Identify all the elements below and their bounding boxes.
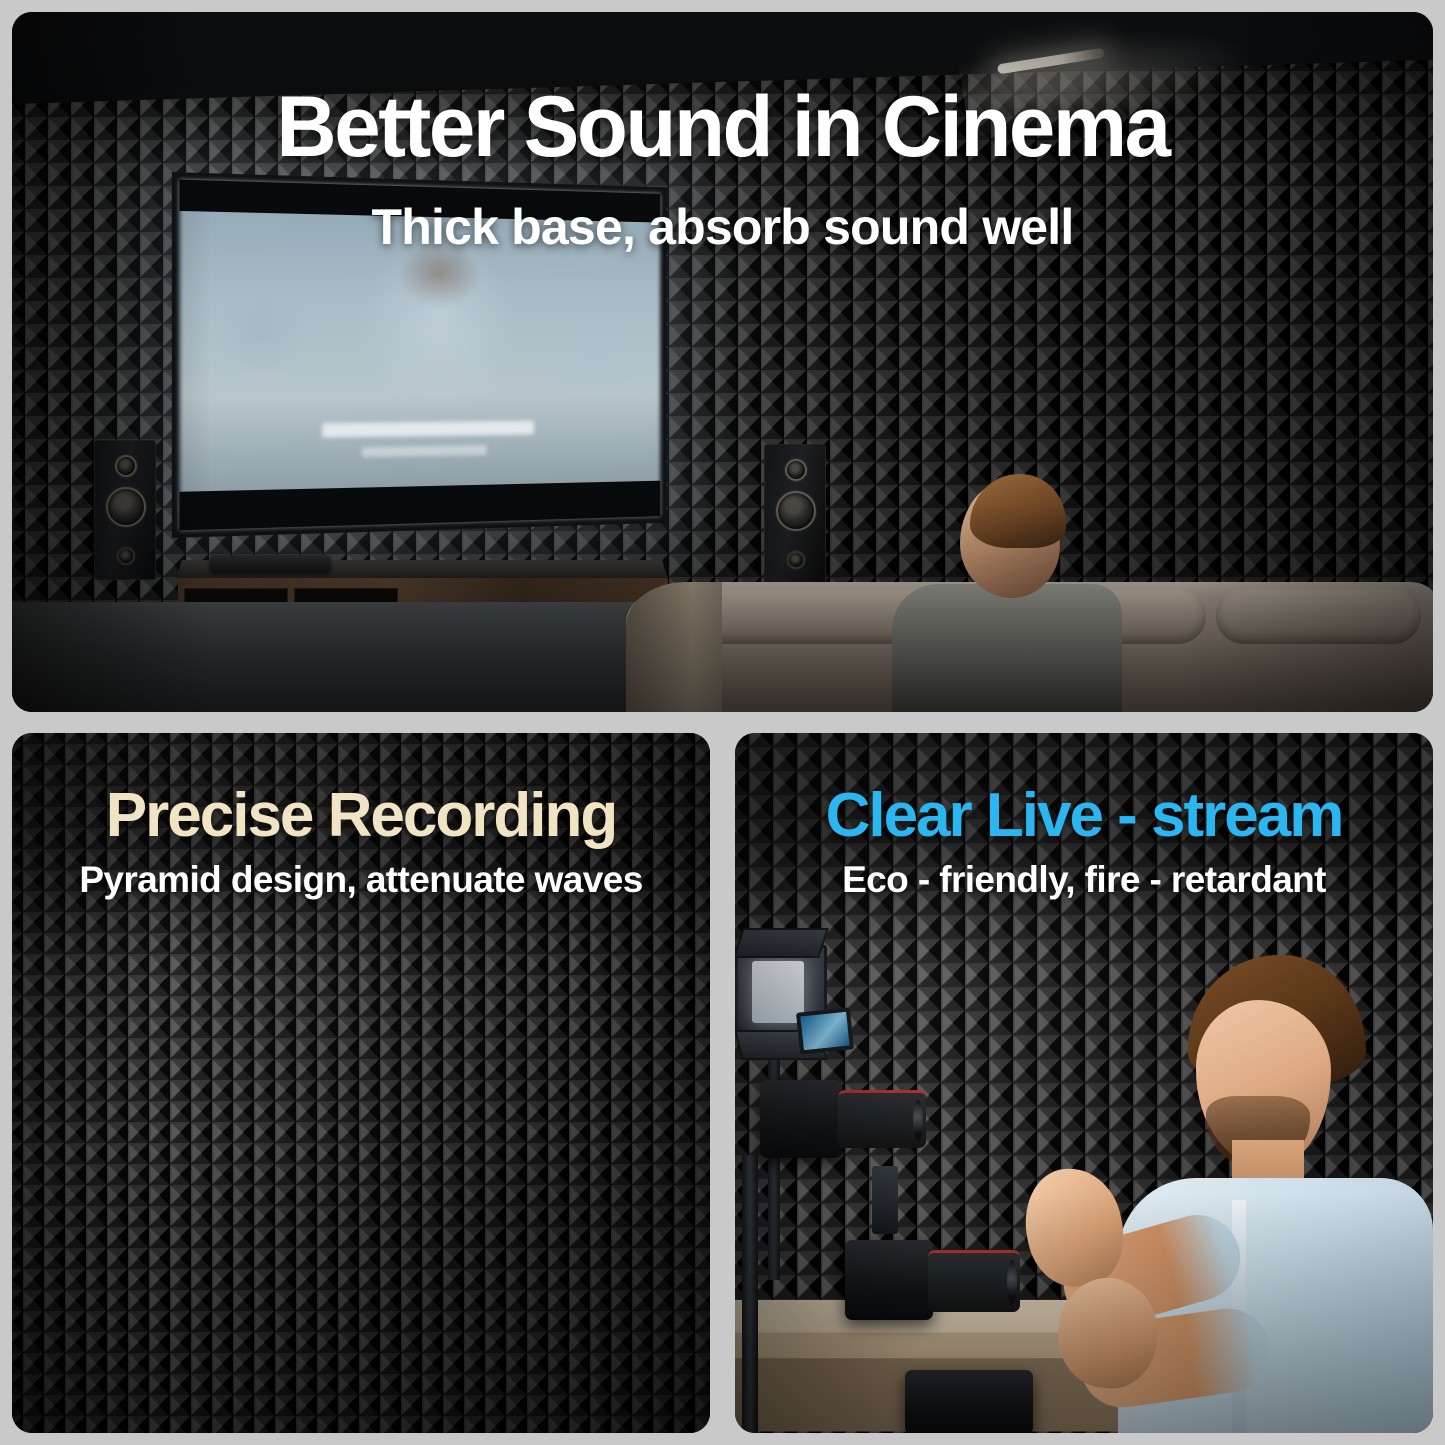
panel-livestream-content: Clear Live - stream Eco - friendly, fire…: [735, 733, 1433, 1433]
panel-cinema: Better Sound in Cinema Thick base, absor…: [12, 12, 1433, 712]
livestream-vignette: [735, 733, 1433, 1433]
product-feature-collage: Better Sound in Cinema Thick base, absor…: [0, 0, 1445, 1445]
recording-vignette: [12, 733, 710, 1433]
cinema-vignette: [12, 12, 1433, 712]
panel-recording: Precise Recording Pyramid design, attenu…: [12, 733, 710, 1433]
